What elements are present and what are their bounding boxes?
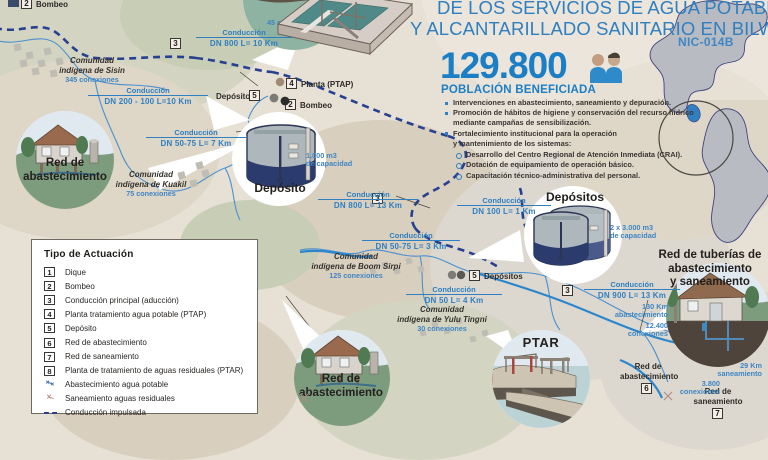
legend-key: 1 (44, 267, 55, 277)
legend-key: 2 (44, 281, 55, 291)
legend-label: Dique (65, 268, 86, 277)
legend-key: 3 (44, 295, 55, 305)
legend-row[interactable]: 7 Red de saneamiento (44, 350, 247, 364)
legend-row[interactable]: 3 Conducción principal (aducción) (44, 293, 247, 307)
legend-row[interactable]: 5 Depósito (44, 321, 247, 335)
sanitation-x-icon (300, 392, 672, 402)
legend-key: 7 (44, 352, 55, 362)
legend-row[interactable]: 8 Planta de tratamiento de aguas residua… (44, 364, 247, 378)
legend-key: 6 (44, 338, 55, 348)
legend-row[interactable]: Conducción impulsada (44, 406, 247, 420)
legend-label: Red de abastecimiento (65, 338, 147, 347)
legend-label: Planta de tratamiento de aguas residuale… (65, 366, 243, 375)
legend-label: Bombeo (65, 282, 95, 291)
legend-label: Red de saneamiento (65, 352, 139, 361)
sanitation-network-icon (44, 390, 55, 408)
pumped-conduction-icon (44, 412, 55, 414)
legend-key: 8 (44, 366, 55, 376)
legend-row[interactable]: 4 Planta tratamiento agua potable (PTAP) (44, 307, 247, 321)
legend-panel: Tipo de Actuación 1 Dique 2 Bombeo 3 Con… (31, 239, 258, 414)
legend-row[interactable]: 2 Bombeo (44, 279, 247, 293)
legend-label: Conducción impulsada (65, 408, 146, 417)
legend-label: Conducción principal (aducción) (65, 296, 179, 305)
legend-row[interactable]: Abastecimiento agua potable (44, 378, 247, 392)
legend-row[interactable]: 1 Dique (44, 265, 247, 279)
legend-label: Planta tratamiento agua potable (PTAP) (65, 310, 206, 319)
infographic-root: DE LOS SERVICIOS DE AGUA POTABLE Y ALCAN… (0, 0, 768, 423)
legend-label: Depósito (65, 324, 97, 333)
legend-row[interactable]: Saneamiento aguas residuales (44, 392, 247, 406)
legend-key: 5 (44, 323, 55, 333)
legend-key: 4 (44, 309, 55, 319)
legend-row[interactable]: 6 Red de abastecimiento (44, 335, 247, 349)
legend-label: Abastecimiento agua potable (65, 380, 168, 389)
legend-title: Tipo de Actuación (44, 249, 247, 260)
legend-label: Saneamiento aguas residuales (65, 394, 175, 403)
